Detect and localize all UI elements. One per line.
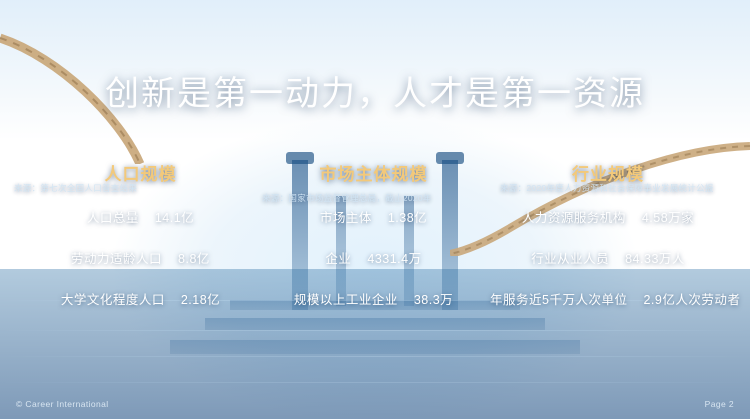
pier-deck-near: [170, 340, 580, 354]
water-ripple: [0, 330, 750, 331]
stat-row: 市场主体 1.38亿: [257, 207, 490, 226]
stat-label: 人口总量: [87, 211, 139, 225]
water-ripple: [0, 382, 750, 383]
stat-value: 84.33万人: [625, 252, 685, 266]
stat-value: 1.38亿: [388, 211, 427, 225]
source-note-population: 来源：第七次全国人口普查结果: [14, 182, 137, 194]
stat-row: 大学文化程度人口 2.18亿: [24, 289, 257, 308]
footer-page-number: Page 2: [705, 399, 734, 409]
stat-row: 人口总量 14.1亿: [24, 207, 257, 226]
source-note-market: 来源：国家市场监督管理总局，截止2020年: [262, 192, 432, 204]
stat-row: 规模以上工业企业 38.3万: [257, 289, 490, 308]
stat-label: 企业: [325, 252, 351, 266]
stat-row: 年服务近5千万人次单位 2.9亿人次劳动者: [490, 289, 726, 308]
stat-label: 劳动力适龄人口: [71, 252, 162, 266]
stat-value: 38.3万: [414, 293, 453, 307]
stat-row: 劳动力适龄人口 8.8亿: [24, 248, 257, 267]
slide-canvas: 创新是第一动力，人才是第一资源 人口规模 人口总量 14.1亿 劳动力适龄人口 …: [0, 0, 750, 419]
stat-label: 人力资源服务机构: [522, 211, 626, 225]
page-title: 创新是第一动力，人才是第一资源: [0, 66, 750, 115]
source-note-industry: 来源：2020年度人力资源和社会保障事业发展统计公报: [500, 182, 714, 194]
stat-label: 大学文化程度人口: [61, 293, 165, 307]
stat-label: 年服务近5千万人次单位: [490, 293, 627, 307]
footer-copyright: © Career International: [16, 399, 109, 409]
column-market-entities: 市场主体规模 市场主体 1.38亿 企业 4331.4万 规模以上工业企业 38…: [257, 160, 490, 330]
stat-value: 4331.4万: [367, 252, 421, 266]
stat-value: 4.58万家: [642, 211, 694, 225]
stat-label: 行业从业人员: [531, 252, 609, 266]
stat-row: 企业 4331.4万: [257, 248, 490, 267]
stat-row: 行业从业人员 84.33万人: [490, 248, 726, 267]
stat-label: 规模以上工业企业: [294, 293, 398, 307]
water-ripple: [0, 356, 750, 357]
stat-row: 人力资源服务机构 4.58万家: [490, 207, 726, 226]
stat-label: 市场主体: [320, 211, 372, 225]
column-heading: 市场主体规模: [257, 160, 490, 185]
stat-value: 8.8亿: [178, 252, 210, 266]
stat-value: 2.9亿人次劳动者: [643, 293, 740, 307]
stat-value: 14.1亿: [155, 211, 194, 225]
stat-value: 2.18亿: [181, 293, 220, 307]
